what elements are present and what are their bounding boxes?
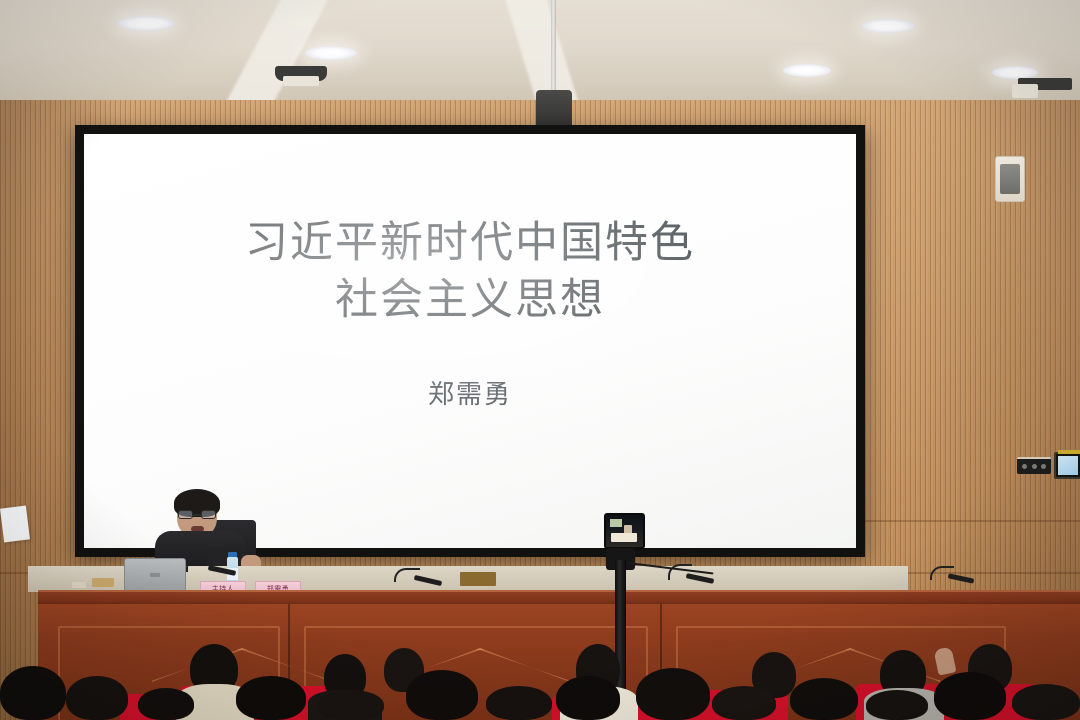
audience-head [486,686,552,720]
audience-head [236,676,306,720]
audience-head [0,666,66,720]
ceiling-speaker-plate [283,76,319,86]
slide-title-line-1: 习近平新时代中国特色 [84,216,856,271]
wall-control-panel[interactable] [1017,457,1051,474]
audience-head [1012,684,1080,720]
projection-screen: 习近平新时代中国特色 社会主义思想 郑需勇 [84,134,856,548]
phone-screen [606,515,643,547]
control-button[interactable] [1022,464,1027,469]
ceiling-speaker-plate [1012,84,1038,98]
audience-head [712,686,776,720]
monitor-top-trim [1058,450,1080,454]
desk-object [92,578,114,587]
slide-author: 郑需勇 [428,374,512,411]
glasses-lens-right [201,510,216,519]
speaker-grille-icon [1000,164,1020,194]
ceiling [0,0,1080,104]
control-button[interactable] [1032,464,1037,469]
wall-speaker-panel [995,156,1025,202]
laptop[interactable] [124,558,186,591]
wall-display-monitor [1054,452,1080,479]
paper-sheet [0,506,30,543]
ceiling-light [862,19,914,33]
audience-head [138,688,194,720]
desk-object [460,572,496,586]
audience-head [934,672,1006,720]
smartphone-camera[interactable] [604,513,645,549]
ceiling-light [305,46,357,60]
audience-head [318,690,384,720]
desk-object [72,582,86,588]
audience-head [790,678,858,720]
screen-glare [84,134,856,548]
audience-head [636,668,710,720]
ceiling-light [118,16,174,31]
audience-head [66,676,128,720]
projector-mount-pole [551,0,556,96]
lecture-hall-photo: 习近平新时代中国特色 社会主义思想 郑需勇 主持人 郑需勇 [0,0,1080,720]
slide-title-line-2: 社会主义思想 [84,273,856,328]
audience-head [406,670,478,720]
phone-preview-slide [610,519,622,527]
audience-head [866,690,928,720]
glasses-icon [178,510,216,519]
monitor-screen [1058,456,1078,475]
phone-preview-desk [611,533,637,542]
wall-seam [860,520,1080,522]
control-button[interactable] [1041,464,1046,469]
glasses-lens-left [178,510,193,519]
ceiling-light [783,64,831,77]
audience-head [556,676,620,720]
laptop-logo-icon [150,573,160,577]
glasses-bridge [193,514,201,516]
